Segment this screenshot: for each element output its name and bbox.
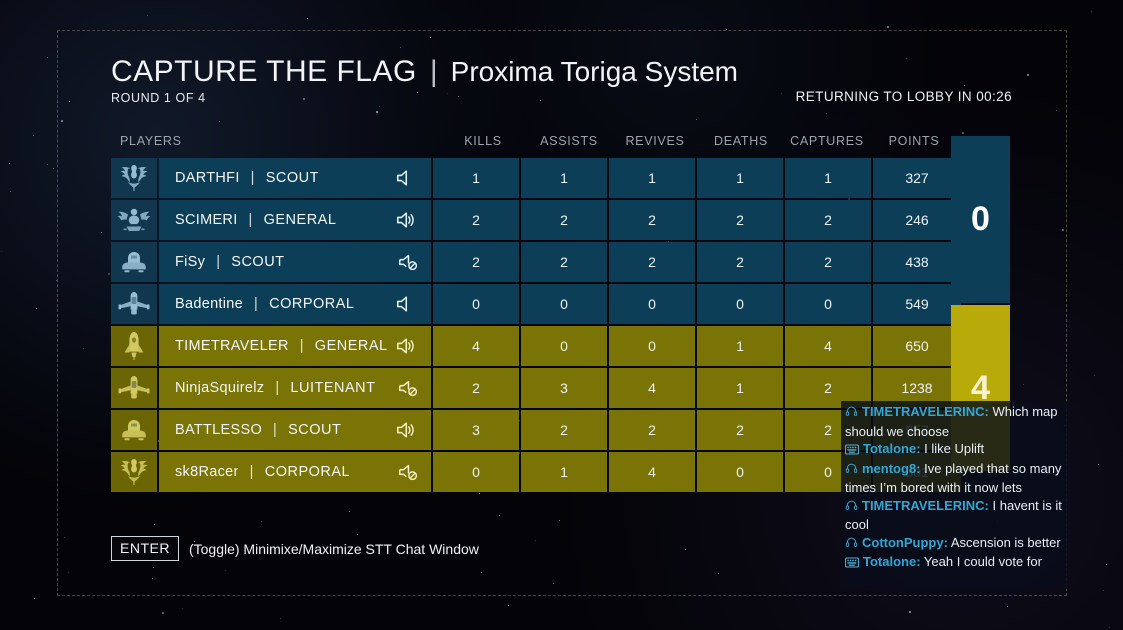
chat-toggle-hint: ENTER (Toggle) Minimixe/Maximize STT Cha… — [111, 536, 479, 561]
title-separator: | — [430, 55, 438, 89]
cell-assists: 2 — [521, 200, 607, 240]
keyboard-icon — [845, 442, 859, 460]
scoreboard-screen: CAPTURE THE FLAG | Proxima Toriga System… — [0, 0, 1123, 630]
chat-text: Yeah I could vote for — [924, 554, 1042, 569]
cell-captures: 2 — [785, 242, 871, 282]
column-header-points: POINTS — [870, 134, 958, 148]
cell-deaths: 2 — [697, 200, 783, 240]
chat-author: Totalone: — [863, 441, 921, 456]
player-name-cell[interactable]: FiSy|SCOUT — [111, 242, 431, 282]
name-rank-separator: | — [273, 422, 277, 438]
cell-captures: 1 — [785, 158, 871, 198]
cell-revives: 2 — [609, 410, 695, 450]
player-identity: SCIMERI|GENERAL — [159, 200, 431, 240]
chat-author: CottonPuppy: — [862, 535, 948, 550]
headset-icon — [845, 499, 858, 517]
headset-icon — [845, 405, 858, 423]
player-name: FiSy — [175, 254, 205, 270]
column-header-players: PLAYERS — [111, 134, 440, 148]
player-rank: CORPORAL — [269, 296, 354, 312]
column-header-kills: KILLS — [440, 134, 526, 148]
player-identity: FiSy|SCOUT — [159, 242, 431, 282]
cell-captures: 2 — [785, 200, 871, 240]
table-row[interactable]: SCIMERI|GENERAL22222246 — [111, 200, 961, 240]
player-rank: CORPORAL — [265, 464, 350, 480]
table-body: DARTHFI|SCOUT11111327SCIMERI|GENERAL2222… — [111, 158, 961, 492]
cell-deaths: 1 — [697, 368, 783, 408]
player-identity: TIMETRAVELER|GENERAL — [159, 326, 431, 366]
table-row[interactable]: TIMETRAVELER|GENERAL40014650 — [111, 326, 961, 366]
speaker-waves-icon[interactable] — [393, 209, 419, 231]
chat-text: Ascension is better — [951, 535, 1061, 550]
player-rank: SCOUT — [231, 254, 284, 270]
player-name-cell[interactable]: NinjaSquirelz|LUITENANT — [111, 368, 431, 408]
cell-captures: 4 — [785, 326, 871, 366]
insignia-emblem-icon — [111, 200, 157, 240]
cell-points: 438 — [873, 242, 961, 282]
player-name: DARTHFI — [175, 170, 240, 186]
cell-revives: 2 — [609, 242, 695, 282]
insignia-wings-icon — [111, 158, 157, 198]
cell-revives: 2 — [609, 200, 695, 240]
gamemode-title: CAPTURE THE FLAG — [111, 55, 417, 89]
player-name: BATTLESSO — [175, 422, 262, 438]
stt-chat-window[interactable]: TIMETRAVELERINC: Which map should we cho… — [841, 401, 1067, 589]
speaker-icon[interactable] — [393, 293, 419, 315]
name-rank-separator: | — [300, 338, 304, 354]
player-name-cell[interactable]: Badentine|CORPORAL — [111, 284, 431, 324]
cell-deaths: 0 — [697, 284, 783, 324]
cell-assists: 0 — [521, 326, 607, 366]
header: CAPTURE THE FLAG | Proxima Toriga System… — [111, 55, 738, 105]
page-title: CAPTURE THE FLAG | Proxima Toriga System — [111, 55, 738, 89]
table-row[interactable]: FiSy|SCOUT22222438 — [111, 242, 961, 282]
chat-message: TIMETRAVELERINC: Which map should we cho… — [845, 403, 1063, 440]
team-score-blue: 0 — [951, 136, 1010, 303]
scoreboard-table: PLAYERS KILLS ASSISTS REVIVES DEATHS CAP… — [111, 130, 961, 494]
cell-revives: 4 — [609, 368, 695, 408]
cell-kills: 2 — [433, 242, 519, 282]
table-row[interactable]: NinjaSquirelz|LUITENANT234121238 — [111, 368, 961, 408]
cell-kills: 1 — [433, 158, 519, 198]
player-name: NinjaSquirelz — [175, 380, 264, 396]
table-header-row: PLAYERS KILLS ASSISTS REVIVES DEATHS CAP… — [111, 130, 961, 152]
enter-keycap[interactable]: ENTER — [111, 536, 179, 561]
speaker-waves-icon[interactable] — [393, 335, 419, 357]
ship-pod-icon — [111, 242, 157, 282]
player-name: SCIMERI — [175, 212, 238, 228]
cell-assists: 2 — [521, 242, 607, 282]
headset-icon — [845, 536, 858, 554]
player-name-cell[interactable]: DARTHFI|SCOUT — [111, 158, 431, 198]
cell-deaths: 1 — [697, 326, 783, 366]
player-identity: Badentine|CORPORAL — [159, 284, 431, 324]
cell-kills: 2 — [433, 200, 519, 240]
name-rank-separator: | — [216, 254, 220, 270]
chat-message: Totalone: I like Uplift — [845, 440, 1063, 460]
chat-message: CottonPuppy: Ascension is better — [845, 534, 1063, 554]
chat-message: TIMETRAVELERINC: I havent is it cool — [845, 497, 1063, 534]
name-rank-separator: | — [251, 170, 255, 186]
cell-kills: 0 — [433, 452, 519, 492]
player-rank: SCOUT — [288, 422, 341, 438]
player-name: Badentine — [175, 296, 243, 312]
cell-captures: 0 — [785, 284, 871, 324]
chat-toggle-hint-label: (Toggle) Minimixe/Maximize STT Chat Wind… — [189, 541, 479, 557]
name-rank-separator: | — [250, 464, 254, 480]
speaker-waves-icon[interactable] — [393, 419, 419, 441]
name-rank-separator: | — [254, 296, 258, 312]
cell-deaths: 0 — [697, 452, 783, 492]
round-indicator: ROUND 1 OF 4 — [111, 91, 738, 105]
table-row[interactable]: DARTHFI|SCOUT11111327 — [111, 158, 961, 198]
map-name: Proxima Toriga System — [451, 56, 738, 88]
speaker-muted-icon[interactable] — [397, 377, 419, 399]
chat-author: Totalone: — [863, 554, 921, 569]
player-identity: NinjaSquirelz|LUITENANT — [159, 368, 431, 408]
table-row[interactable]: Badentine|CORPORAL00000549 — [111, 284, 961, 324]
player-name-cell[interactable]: TIMETRAVELER|GENERAL — [111, 326, 431, 366]
cell-assists: 1 — [521, 452, 607, 492]
cell-kills: 0 — [433, 284, 519, 324]
cell-deaths: 2 — [697, 410, 783, 450]
cell-revives: 0 — [609, 284, 695, 324]
insignia-wings-icon — [111, 452, 157, 492]
player-name-cell[interactable]: SCIMERI|GENERAL — [111, 200, 431, 240]
name-rank-separator: | — [275, 380, 279, 396]
player-rank: GENERAL — [315, 338, 388, 354]
player-rank: SCOUT — [266, 170, 319, 186]
speaker-icon[interactable] — [393, 167, 419, 189]
table-row[interactable]: sk8Racer|CORPORAL01400301 — [111, 452, 961, 492]
ship-rocket-icon — [111, 326, 157, 366]
cell-revives: 0 — [609, 326, 695, 366]
player-identity: BATTLESSO|SCOUT — [159, 410, 431, 450]
column-header-assists: ASSISTS — [526, 134, 612, 148]
column-header-captures: CAPTURES — [784, 134, 870, 148]
cell-kills: 4 — [433, 326, 519, 366]
cell-points: 650 — [873, 326, 961, 366]
chat-message: Totalone: Yeah I could vote for — [845, 553, 1063, 573]
player-name-cell[interactable]: BATTLESSO|SCOUT — [111, 410, 431, 450]
speaker-muted-icon[interactable] — [397, 461, 419, 483]
cell-assists: 1 — [521, 158, 607, 198]
cell-kills: 2 — [433, 368, 519, 408]
player-identity: DARTHFI|SCOUT — [159, 158, 431, 198]
cell-deaths: 1 — [697, 158, 783, 198]
cell-revives: 4 — [609, 452, 695, 492]
chat-text: I like Uplift — [924, 441, 984, 456]
cell-assists: 3 — [521, 368, 607, 408]
player-rank: LUITENANT — [290, 380, 375, 396]
table-row[interactable]: BATTLESSO|SCOUT32222957 — [111, 410, 961, 450]
cell-revives: 1 — [609, 158, 695, 198]
chat-author: TIMETRAVELERINC: — [862, 498, 989, 513]
cell-kills: 3 — [433, 410, 519, 450]
chat-author: TIMETRAVELERINC: — [862, 404, 989, 419]
player-name: sk8Racer — [175, 464, 239, 480]
player-name: TIMETRAVELER — [175, 338, 289, 354]
ship-pod-icon — [111, 410, 157, 450]
cell-deaths: 2 — [697, 242, 783, 282]
player-name-cell[interactable]: sk8Racer|CORPORAL — [111, 452, 431, 492]
speaker-muted-icon[interactable] — [397, 251, 419, 273]
lobby-return-timer: RETURNING TO LOBBY IN 00:26 — [796, 89, 1012, 104]
ship-cruiser-icon — [111, 368, 157, 408]
ship-cruiser-icon — [111, 284, 157, 324]
keyboard-icon — [845, 555, 859, 573]
cell-assists: 2 — [521, 410, 607, 450]
column-header-revives: REVIVES — [612, 134, 698, 148]
cell-points: 327 — [873, 158, 961, 198]
cell-points: 246 — [873, 200, 961, 240]
player-identity: sk8Racer|CORPORAL — [159, 452, 431, 492]
cell-points: 549 — [873, 284, 961, 324]
cell-assists: 0 — [521, 284, 607, 324]
name-rank-separator: | — [249, 212, 253, 228]
column-header-deaths: DEATHS — [698, 134, 784, 148]
chat-author: mentog8: — [862, 461, 921, 476]
player-rank: GENERAL — [264, 212, 337, 228]
headset-icon — [845, 462, 858, 480]
chat-message: mentog8: Ive played that so many times I… — [845, 460, 1063, 497]
